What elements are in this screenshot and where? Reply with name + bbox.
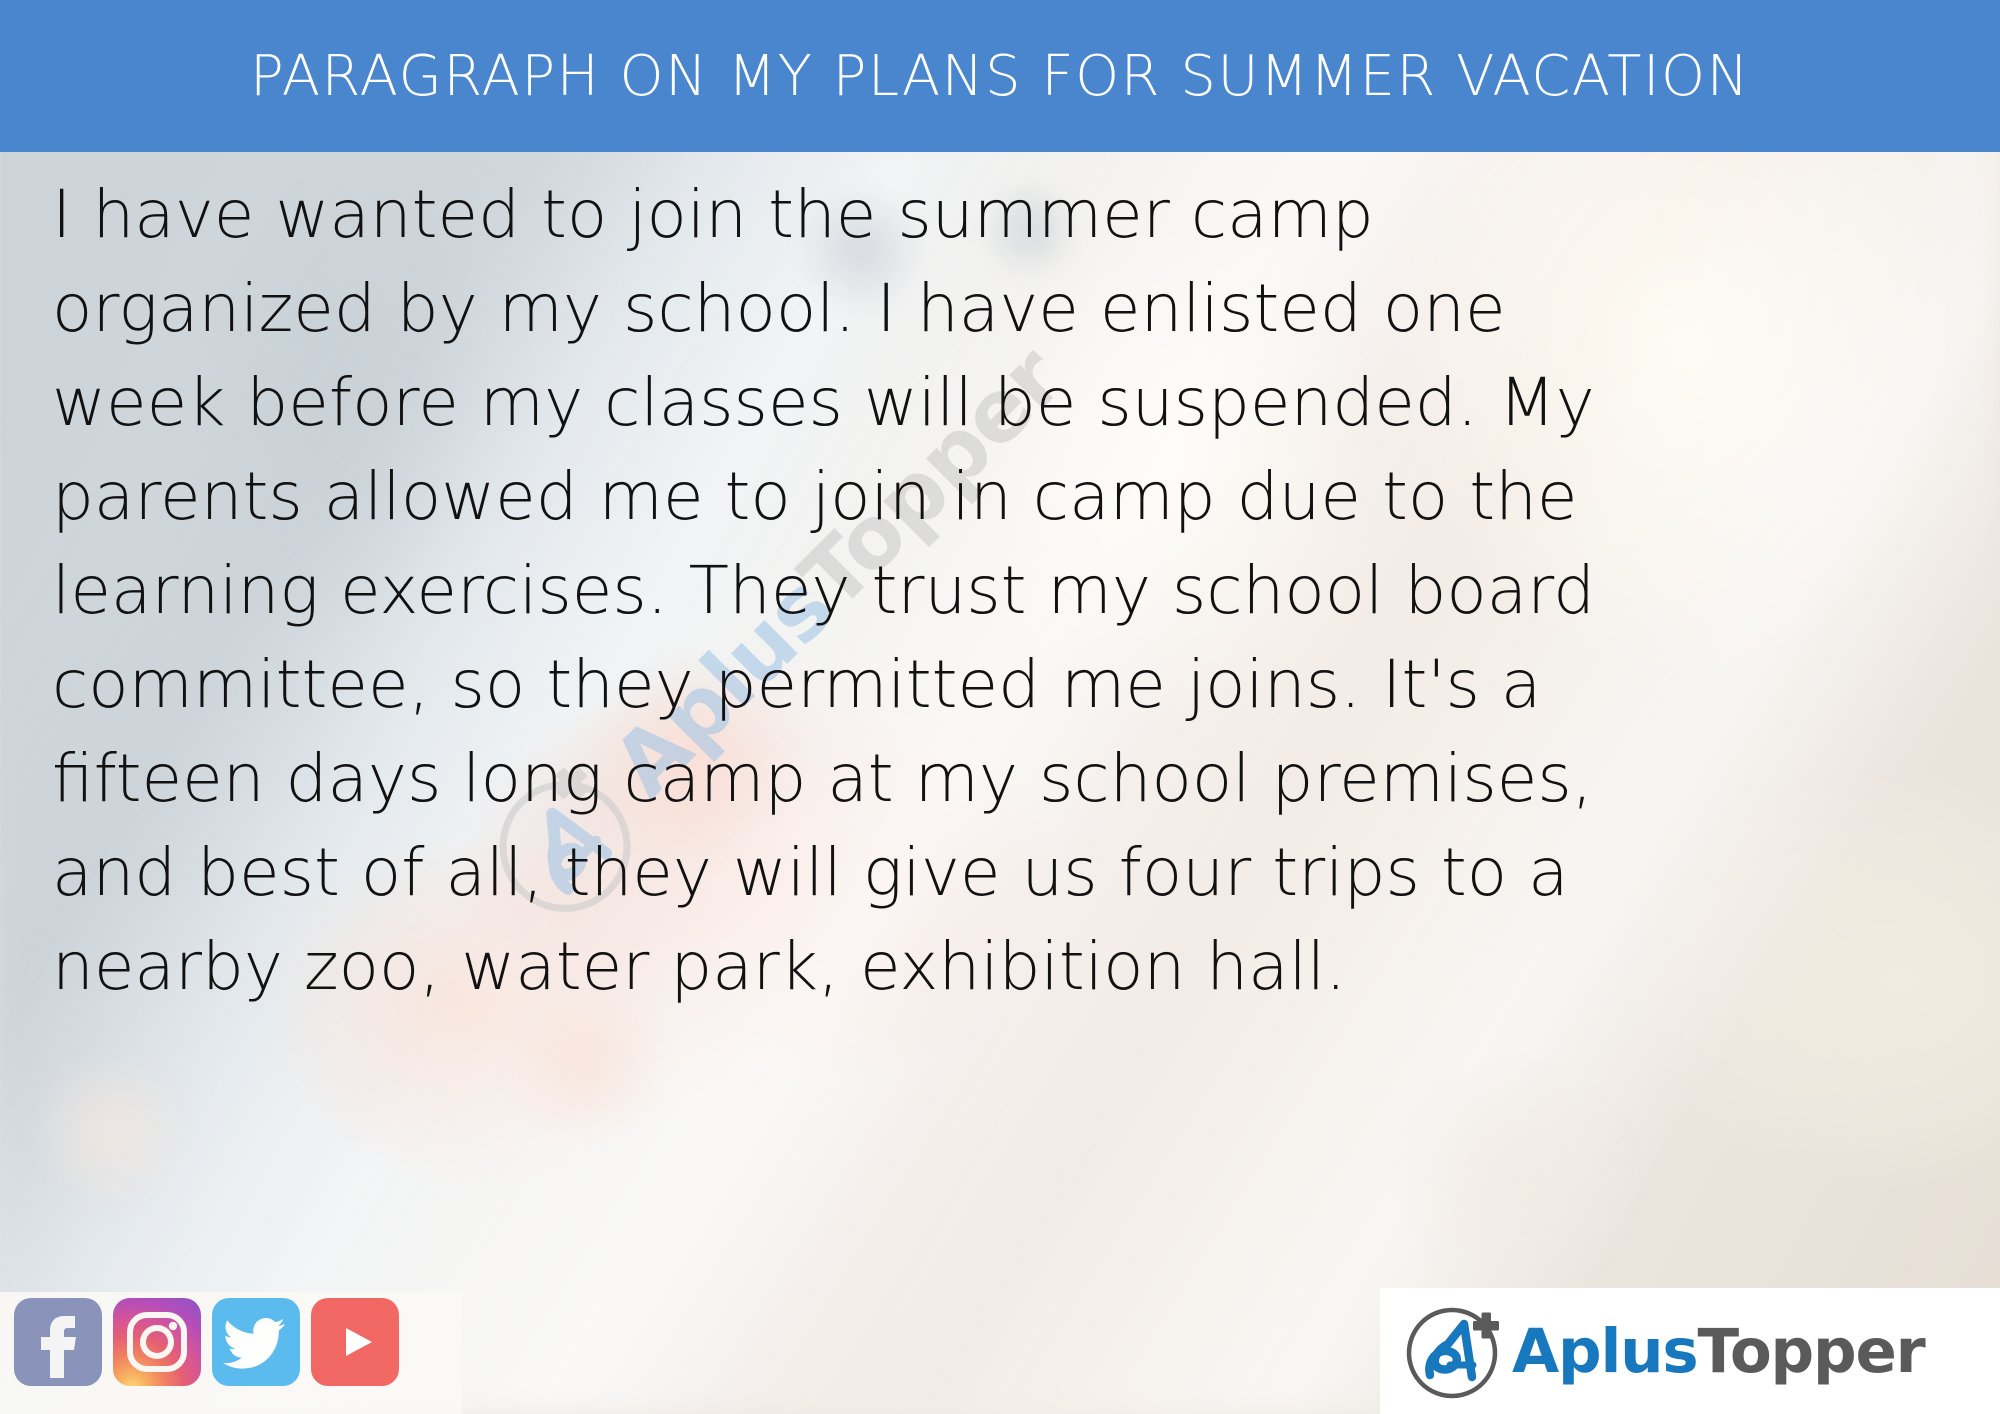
instagram-icon[interactable]	[113, 1298, 201, 1386]
paragraph-line: parents allowed me to join in camp due t…	[52, 450, 1952, 544]
paragraph-line: fifteen days long camp at my school prem…	[52, 732, 1952, 826]
youtube-icon[interactable]	[311, 1298, 399, 1386]
aplus-mark-icon	[1402, 1299, 1506, 1403]
page-title: PARAGRAPH ON MY PLANS FOR SUMMER VACATIO…	[250, 44, 1750, 109]
paragraph-body: I have wanted to join the summer camp or…	[52, 168, 1952, 1014]
facebook-icon[interactable]	[14, 1298, 102, 1386]
page-root: AplusTopper PARAGRAPH ON MY PLANS FOR SU…	[0, 0, 2000, 1414]
paragraph-line: week before my classes will be suspended…	[52, 356, 1952, 450]
logo-brand-primary: Aplus	[1512, 1316, 1698, 1387]
paragraph-line: I have wanted to join the summer camp	[52, 168, 1952, 262]
paragraph-line: and best of all, they will give us four …	[52, 826, 1952, 920]
social-bar	[14, 1298, 399, 1386]
paragraph-line: nearby zoo, water park, exhibition hall.	[52, 920, 1952, 1014]
paragraph-line: committee, so they permitted me joins. I…	[52, 638, 1952, 732]
header-bar: PARAGRAPH ON MY PLANS FOR SUMMER VACATIO…	[0, 0, 2000, 152]
brand-logo[interactable]: AplusTopper	[1380, 1288, 2000, 1414]
twitter-icon[interactable]	[212, 1298, 300, 1386]
logo-brand-secondary: Topper	[1698, 1316, 1925, 1387]
paragraph-line: learning exercises. They trust my school…	[52, 544, 1952, 638]
paragraph-line: organized by my school. I have enlisted …	[52, 262, 1952, 356]
